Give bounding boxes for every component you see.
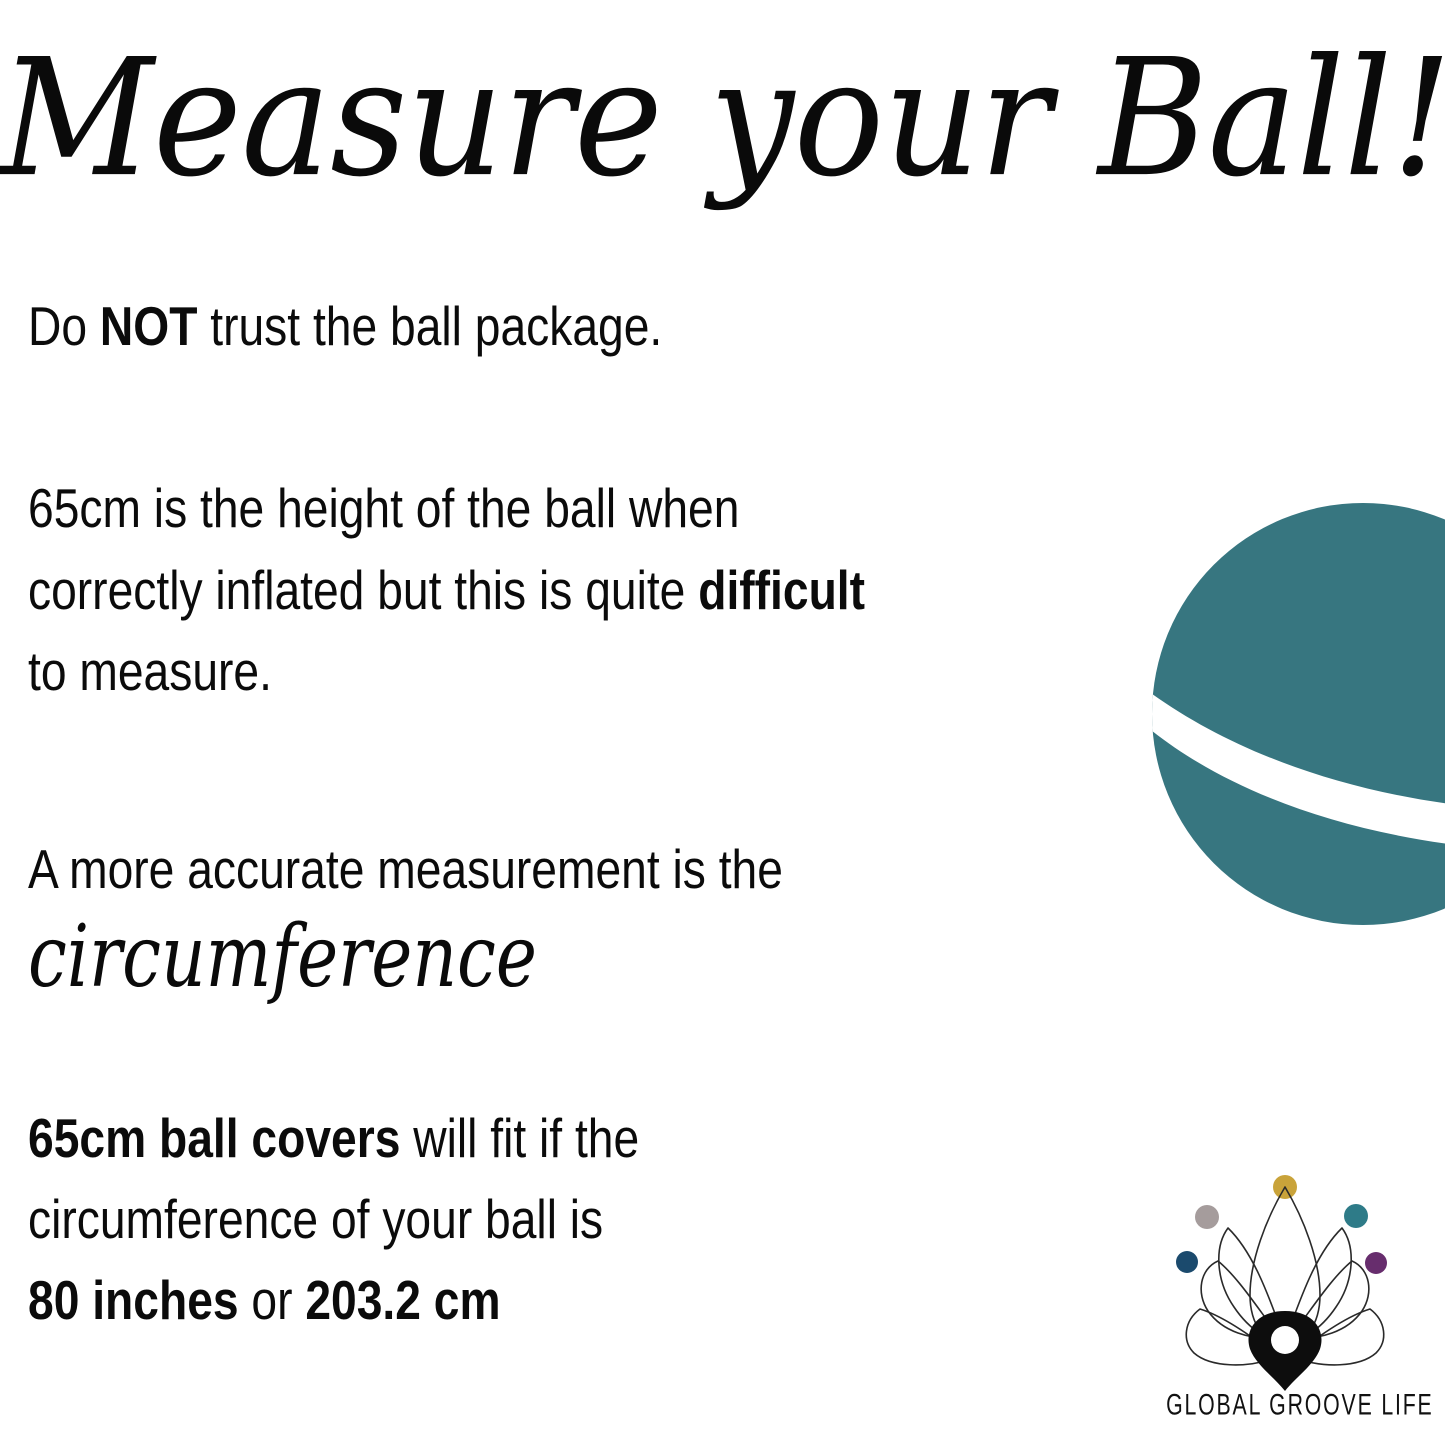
paragraph-height-of-ball: 65cm is the height of the ball when corr… (28, 468, 1120, 712)
logo-wordmark: GLOBAL GROOVE LIFE (1166, 1387, 1404, 1422)
map-pin-icon (1248, 1311, 1321, 1391)
text-run-bold: 80 inches (28, 1269, 239, 1331)
text-run: to measure. (28, 640, 272, 702)
dot-teal-icon (1344, 1204, 1368, 1228)
script-word-circumference: circumference (28, 914, 1076, 1002)
exercise-ball-illustration (1100, 460, 1445, 950)
text-run: trust the ball package. (197, 295, 662, 357)
paragraph-line: 65cm ball covers will fit if the (28, 1098, 1120, 1179)
text-run: or (239, 1269, 306, 1331)
text-run-bold: difficult (698, 559, 865, 621)
dot-navy-icon (1176, 1251, 1198, 1273)
paragraph-line: circumference of your ball is (28, 1179, 1120, 1260)
body-copy: Do NOT trust the ball package. 65cm is t… (28, 286, 1128, 1342)
text-run: 65cm is the height of the ball when (28, 477, 739, 539)
text-run: will fit if the (400, 1107, 639, 1169)
paragraph-do-not-trust: Do NOT trust the ball package. (28, 286, 1120, 367)
page-title: Measure your Ball! (0, 38, 1445, 200)
paragraph-ball-cover-fit: 65cm ball covers will fit if the circumf… (28, 1098, 1120, 1342)
text-run: circumference of your ball is (28, 1188, 603, 1250)
paragraph-line: 65cm is the height of the ball when (28, 468, 1120, 549)
dot-purple-icon (1365, 1252, 1387, 1274)
text-run: Do (28, 295, 100, 357)
paragraph-line: 80 inches or 203.2 cm (28, 1260, 1120, 1341)
text-run-bold: NOT (100, 295, 198, 357)
paragraph-line: to measure. (28, 631, 1120, 712)
text-run-bold: 203.2 cm (305, 1269, 500, 1331)
global-groove-life-logo: GLOBAL GROOVE LIFE (1140, 1165, 1430, 1430)
paragraph-line: correctly inflated but this is quite dif… (28, 550, 1120, 631)
paragraph-accurate-measurement: A more accurate measurement is the circu… (28, 829, 1120, 1002)
text-run-bold: 65cm ball covers (28, 1107, 400, 1169)
paragraph-line: Do NOT trust the ball package. (28, 286, 1120, 367)
infographic-canvas: Measure your Ball! Do NOT trust the ball… (0, 0, 1445, 1445)
ball-body (1152, 503, 1445, 925)
dot-mauve-icon (1195, 1205, 1219, 1229)
text-run: A more accurate measurement is the (28, 838, 783, 900)
text-run: correctly inflated but this is quite (28, 559, 698, 621)
paragraph-line: A more accurate measurement is the (28, 829, 1120, 910)
